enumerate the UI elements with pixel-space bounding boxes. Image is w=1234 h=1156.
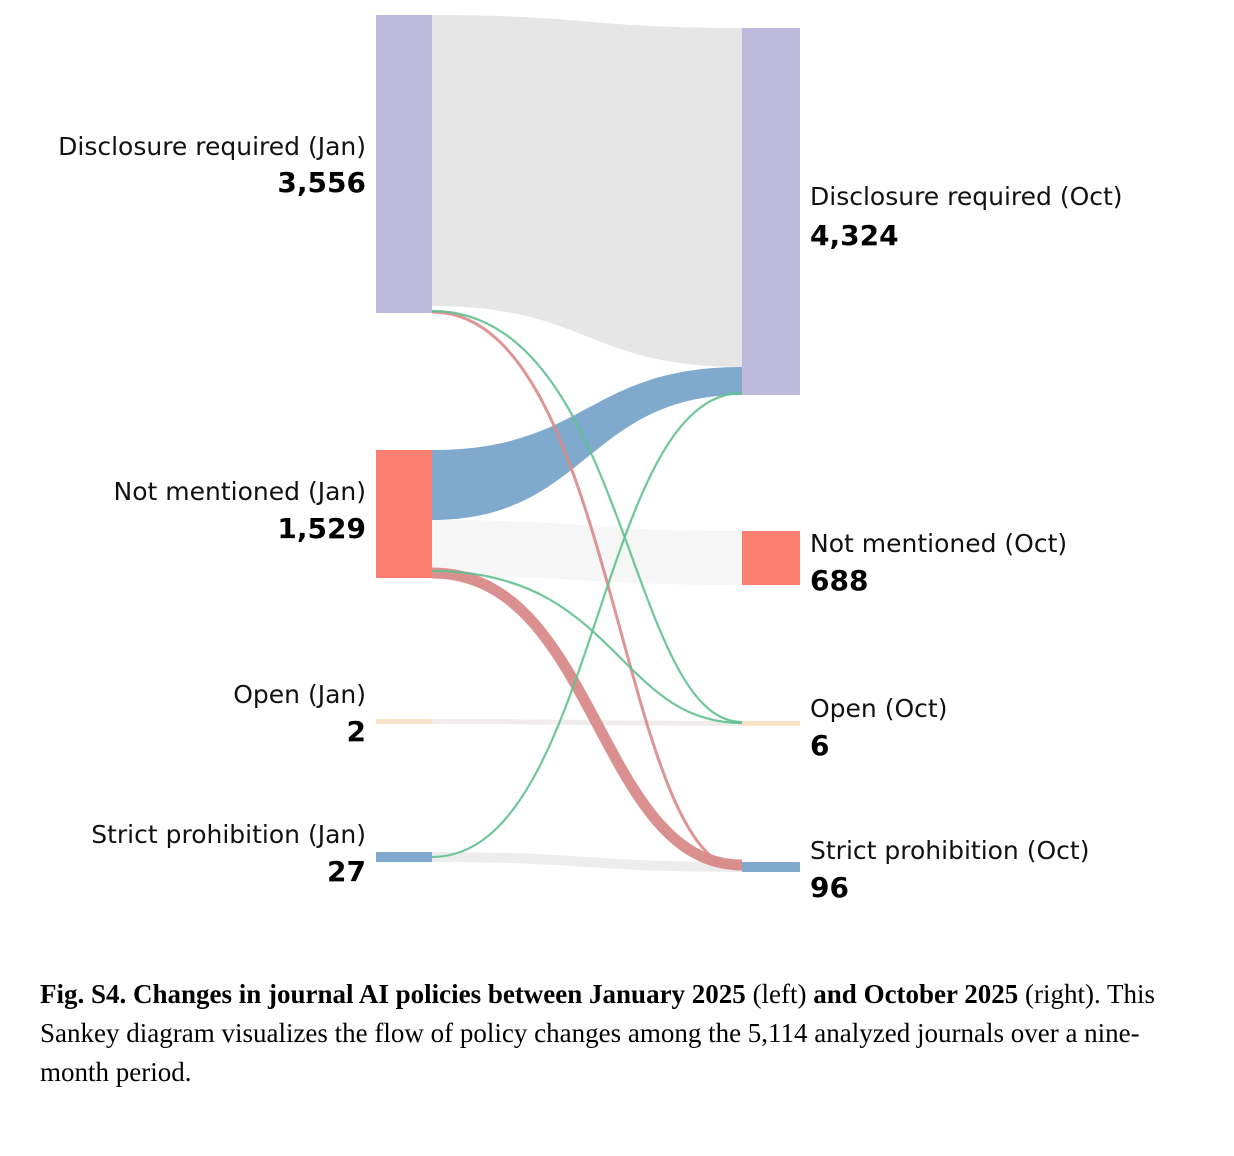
figure-caption: Fig. S4. Changes in journal AI policies … [40, 975, 1205, 1092]
node-open-oct[interactable] [742, 721, 800, 726]
node-disclosure-required-oct[interactable] [742, 28, 800, 395]
caption-bold-2: and October 2025 [813, 979, 1018, 1009]
label-strict-prohibition-oct: Strict prohibition (Oct) [810, 836, 1089, 865]
node-disclosure-required-jan[interactable] [376, 15, 432, 313]
sankey-nodes-right [742, 28, 800, 872]
caption-bold-1: Fig. S4. Changes in journal AI policies … [40, 979, 746, 1009]
sankey-labels-left: Disclosure required (Jan) 3,556 Not ment… [58, 132, 366, 888]
label-open-oct: Open (Oct) [810, 694, 947, 723]
label-not-mentioned-oct: Not mentioned (Oct) [810, 529, 1067, 558]
link-notm-jan-to-strict-oct [432, 573, 742, 865]
node-not-mentioned-jan[interactable] [376, 450, 432, 578]
label-open-jan: Open (Jan) [233, 680, 366, 709]
label-disclosure-required-oct: Disclosure required (Oct) [810, 182, 1123, 211]
value-not-mentioned-oct: 688 [810, 564, 868, 597]
value-not-mentioned-jan: 1,529 [277, 512, 366, 545]
value-strict-prohibition-oct: 96 [810, 871, 849, 904]
node-open-jan[interactable] [376, 719, 432, 724]
link-disc-jan-to-disc-oct [432, 15, 742, 367]
label-strict-prohibition-jan: Strict prohibition (Jan) [91, 820, 366, 849]
sankey-figure: Disclosure required (Jan) 3,556 Not ment… [0, 0, 1234, 940]
sankey-diagram: Disclosure required (Jan) 3,556 Not ment… [0, 0, 1234, 940]
caption-plain-1: (left) [746, 979, 813, 1009]
node-not-mentioned-oct[interactable] [742, 531, 800, 585]
sankey-links [432, 15, 742, 872]
value-disclosure-required-oct: 4,324 [810, 219, 899, 252]
value-open-oct: 6 [810, 729, 829, 762]
node-strict-prohibition-oct[interactable] [742, 862, 800, 872]
sankey-labels-right: Disclosure required (Oct) 4,324 Not ment… [810, 182, 1123, 904]
node-strict-prohibition-jan[interactable] [376, 852, 432, 862]
label-not-mentioned-jan: Not mentioned (Jan) [114, 477, 366, 506]
link-open-jan-to-open-oct [432, 719, 742, 726]
label-disclosure-required-jan: Disclosure required (Jan) [58, 132, 366, 161]
value-disclosure-required-jan: 3,556 [277, 166, 366, 199]
value-open-jan: 2 [347, 715, 366, 748]
sankey-nodes-left [376, 15, 432, 862]
value-strict-prohibition-jan: 27 [327, 855, 366, 888]
